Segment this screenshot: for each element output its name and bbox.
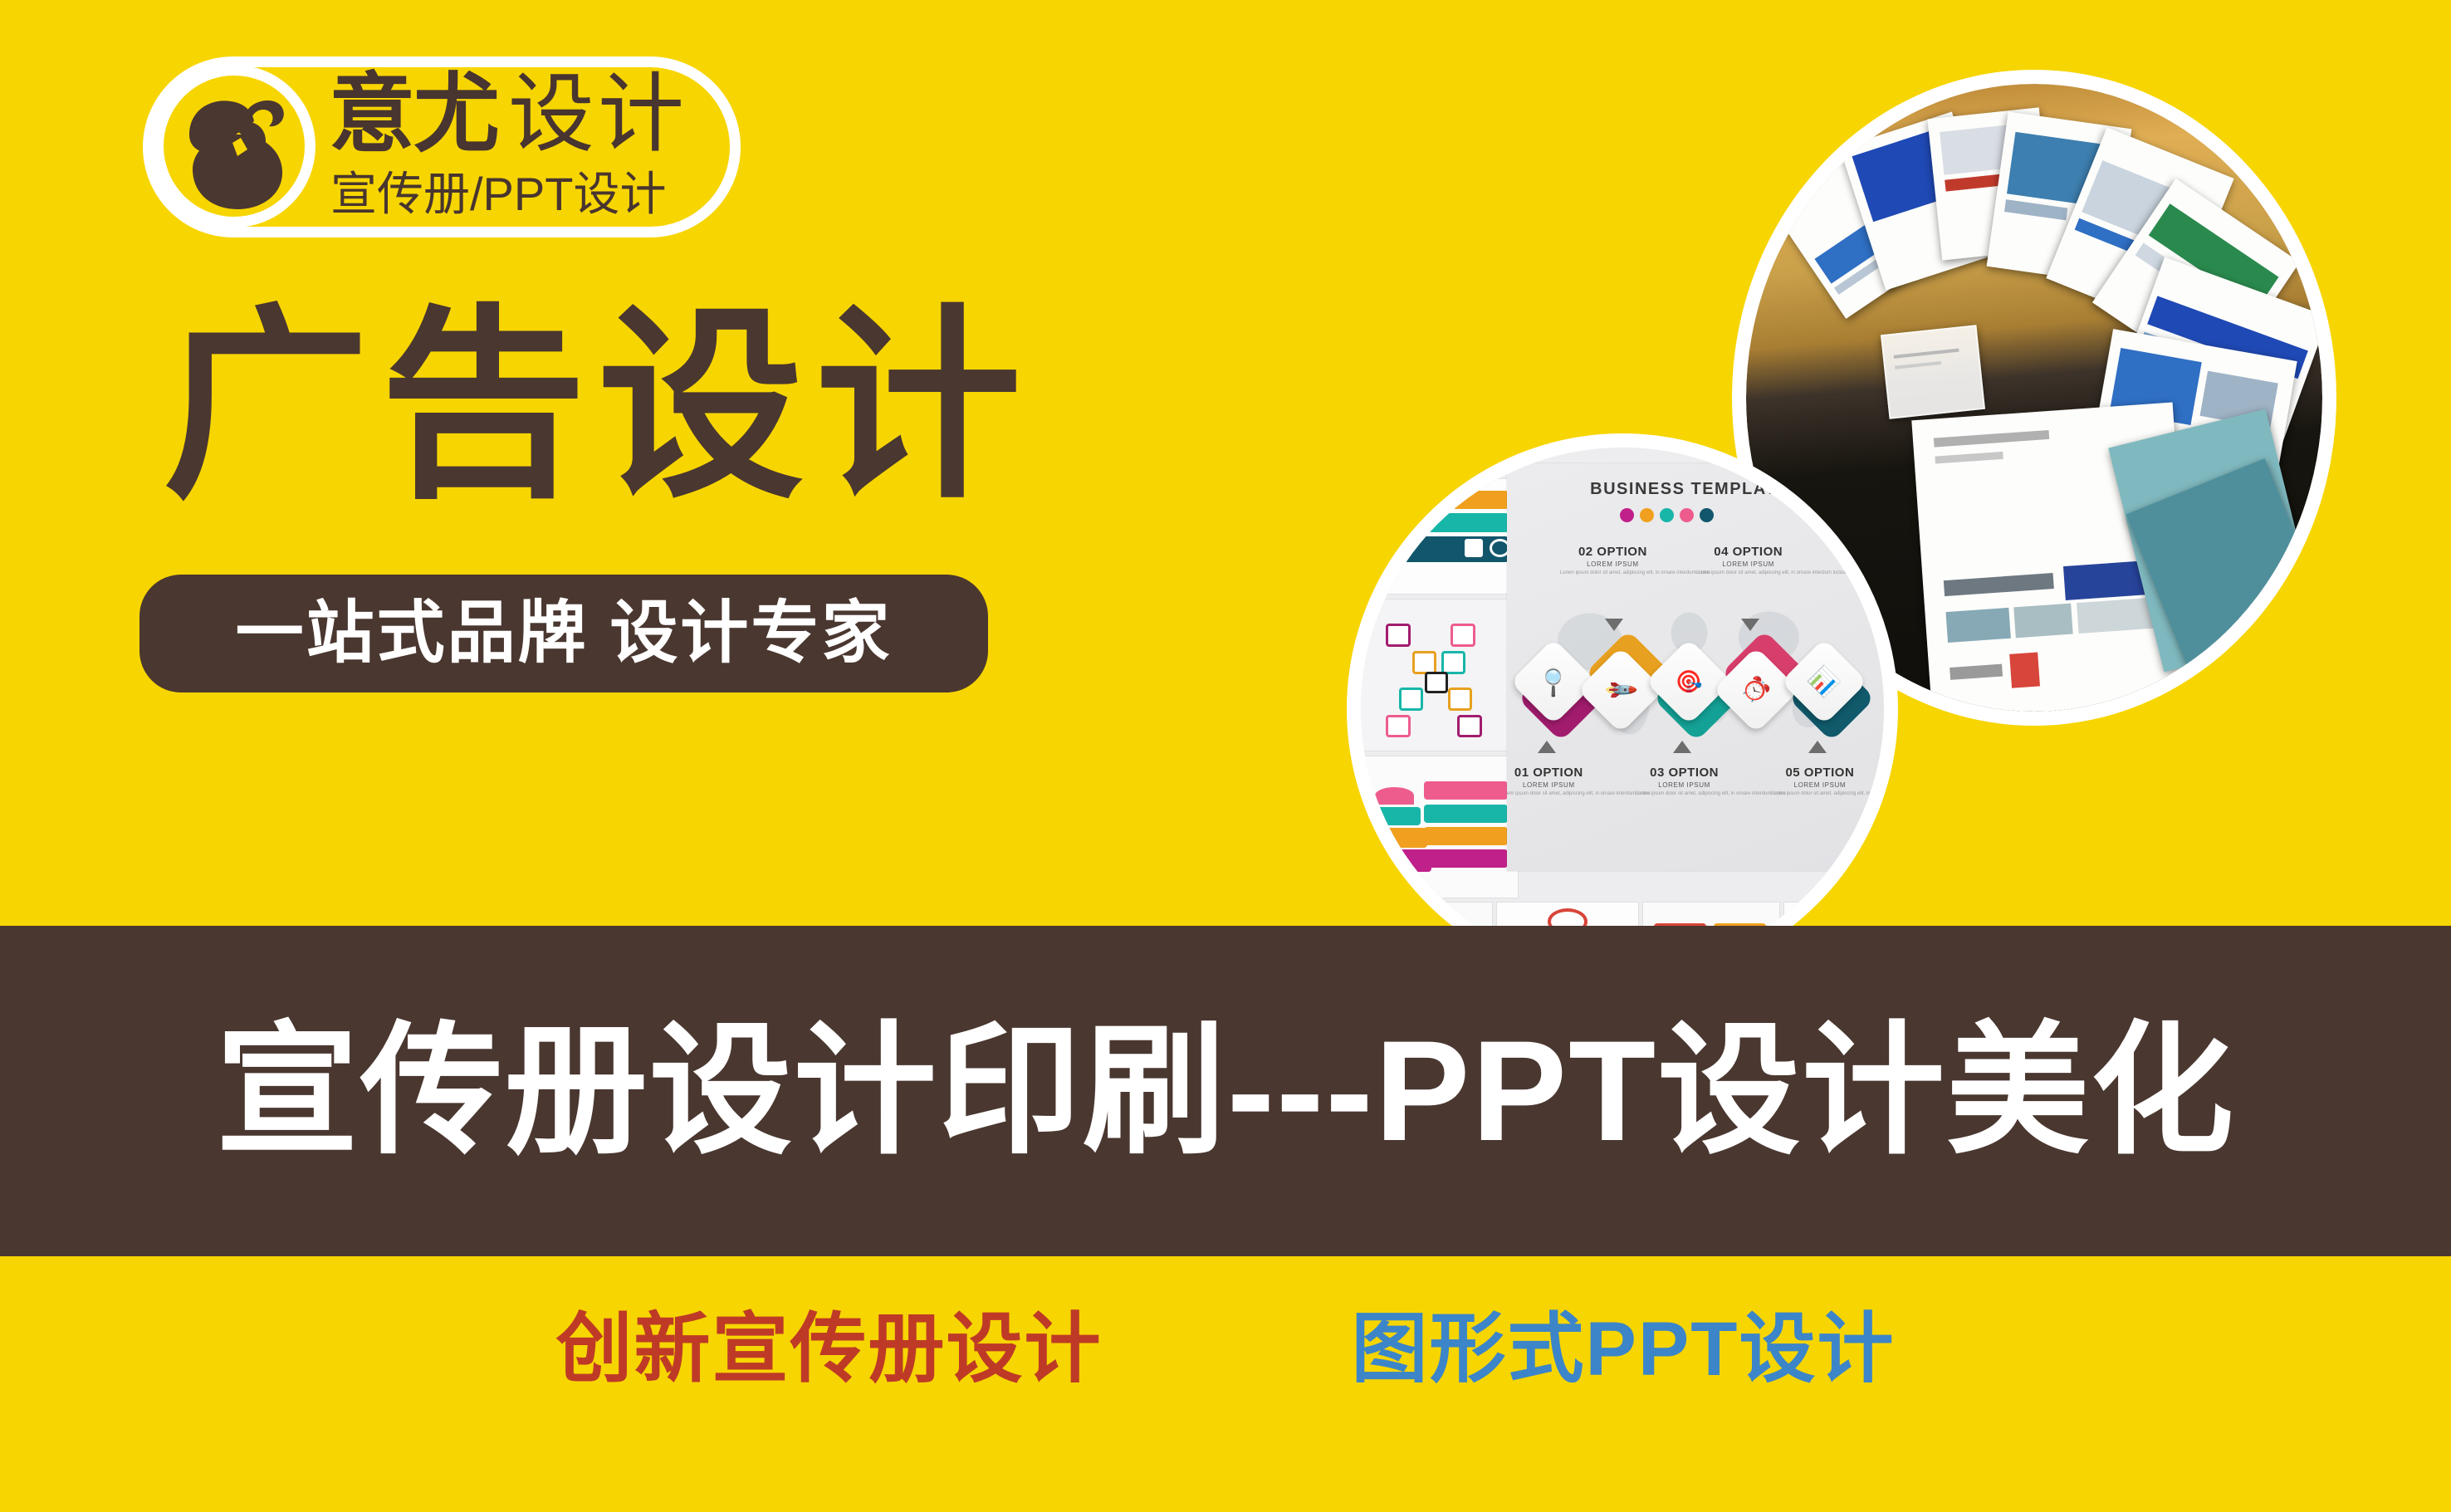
mini-slide-teal-header — [1361, 479, 1518, 595]
pointer-down-icon — [1741, 619, 1759, 631]
pointer-up-icon — [1538, 741, 1556, 753]
pointer-up-icon — [1808, 741, 1827, 753]
option-label-05: 05 OPTION LOREM IPSUM Lorem ipsum dolor … — [1771, 766, 1869, 798]
option-label-03: 03 OPTION LOREM IPSUM Lorem ipsum dolor … — [1636, 766, 1734, 798]
option-label-02: 02 OPTION LOREM IPSUM Lorem ipsum dolor … — [1560, 545, 1666, 577]
subtitle-badge-label: 一站式品牌 设计专家 — [236, 599, 893, 668]
mini-slide-pyramid — [1361, 756, 1518, 898]
logo-brand-bold: 意尤 — [329, 66, 498, 163]
mini-slide-cross-grid — [1361, 599, 1513, 751]
logo-lockup[interactable]: 意尤设计 宣传册/PPT设计 — [143, 56, 741, 237]
option-label-01: 01 OPTION LOREM IPSUM Lorem ipsum dolor … — [1507, 766, 1597, 798]
footer: 创新宣传册设计 图形式PPT设计 — [0, 1256, 2451, 1512]
mini-slide-main-business-template: BUSINESS TEMPLATE 02 OPTION LOREM IPSUM … — [1507, 463, 1884, 871]
business-template-title: BUSINESS TEMPLATE — [1590, 480, 1789, 499]
ppt-templates-photo-circle: BUSINESS TEMPLATE 02 OPTION LOREM IPSUM … — [1347, 433, 1898, 985]
pointer-up-icon — [1673, 741, 1691, 753]
card-holder — [1881, 325, 1985, 420]
banner-bar-label: 宣传册设计印刷---PPT设计美化 — [216, 1020, 2235, 1162]
business-template-dots — [1620, 508, 1714, 522]
logo-brand-light: 设计 — [508, 66, 687, 163]
option-label-04: 04 OPTION LOREM IPSUM Lorem ipsum dolor … — [1695, 545, 1801, 577]
subtitle-badge: 一站式品牌 设计专家 — [139, 575, 988, 692]
advertising-banner: 意尤设计 宣传册/PPT设计 广告设计 一站式品牌 设计专家 — [0, 0, 2451, 1512]
ppt-templates-photo-inner: BUSINESS TEMPLATE 02 OPTION LOREM IPSUM … — [1361, 448, 1884, 971]
logo-tagline: 宣传册/PPT设计 — [330, 171, 666, 218]
leaf-bird-mark-icon — [161, 73, 307, 219]
footer-item-brochure-design: 创新宣传册设计 — [556, 1311, 1103, 1387]
page-title: 广告设计 — [163, 297, 1033, 516]
footer-item-ppt-design: 图形式PPT设计 — [1352, 1311, 1896, 1387]
pointer-down-icon — [1605, 619, 1623, 631]
logo-text-block: 意尤设计 宣传册/PPT设计 — [329, 68, 727, 228]
logo-brand-line: 意尤设计 — [329, 71, 687, 158]
banner-bar: 宣传册设计印刷---PPT设计美化 — [0, 926, 2451, 1256]
